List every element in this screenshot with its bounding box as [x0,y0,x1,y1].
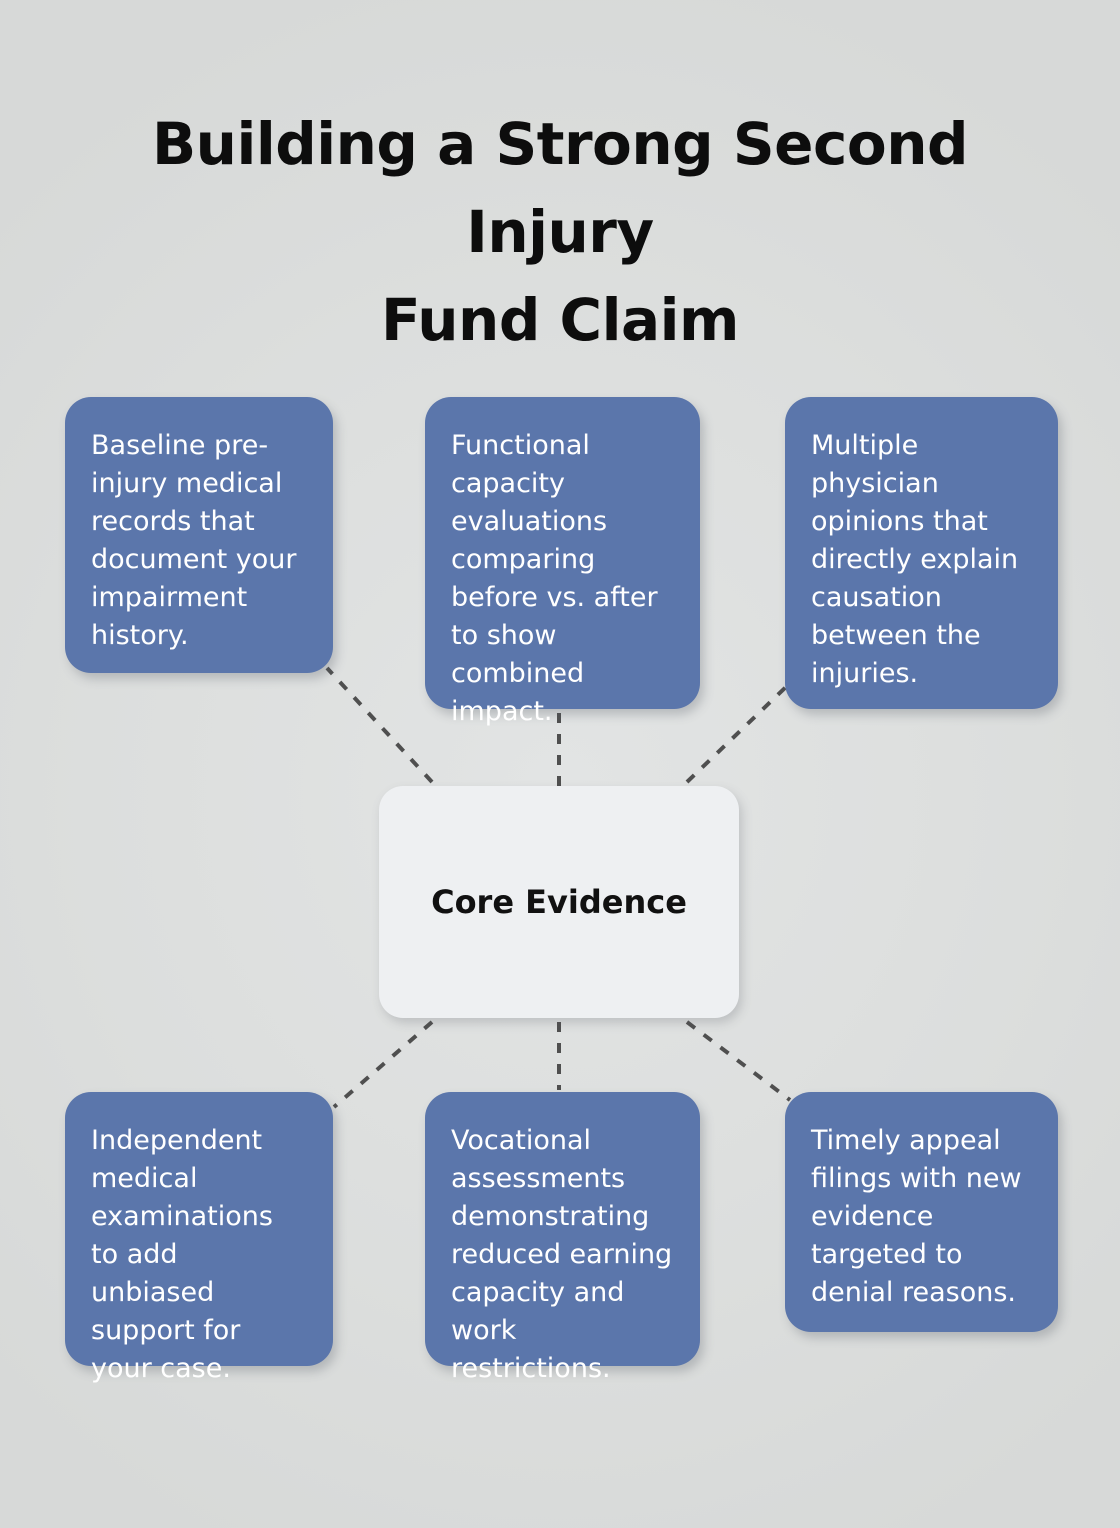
connector-center-to-bottom-right [687,1022,790,1100]
center-node-core-evidence[interactable]: Core Evidence [379,786,739,1018]
center-node-label: Core Evidence [431,882,687,922]
node-bottom-right-label: Timely appeal filings with new evidence … [811,1122,1032,1312]
mind-map-diagram: Building a Strong Second Injury Fund Cla… [0,0,1120,1528]
connector-center-to-top-right [687,686,787,782]
node-top-left-label: Baseline pre-injury medical records that… [91,427,307,655]
node-bottom-right[interactable]: Timely appeal filings with new evidence … [785,1092,1058,1332]
connector-center-to-top-left [327,668,432,782]
node-bottom-left[interactable]: Independent medical examinations to add … [65,1092,333,1366]
node-top-right[interactable]: Multiple physician opinions that directl… [785,397,1058,709]
node-top-left[interactable]: Baseline pre-injury medical records that… [65,397,333,673]
node-top-right-label: Multiple physician opinions that directl… [811,427,1032,693]
node-top-center-label: Functional capacity evaluations comparin… [451,427,674,731]
connector-center-to-bottom-left [334,1022,432,1107]
node-bottom-center[interactable]: Vocational assessments demonstrating red… [425,1092,700,1366]
node-top-center[interactable]: Functional capacity evaluations comparin… [425,397,700,709]
node-bottom-center-label: Vocational assessments demonstrating red… [451,1122,674,1388]
node-bottom-left-label: Independent medical examinations to add … [91,1122,307,1388]
